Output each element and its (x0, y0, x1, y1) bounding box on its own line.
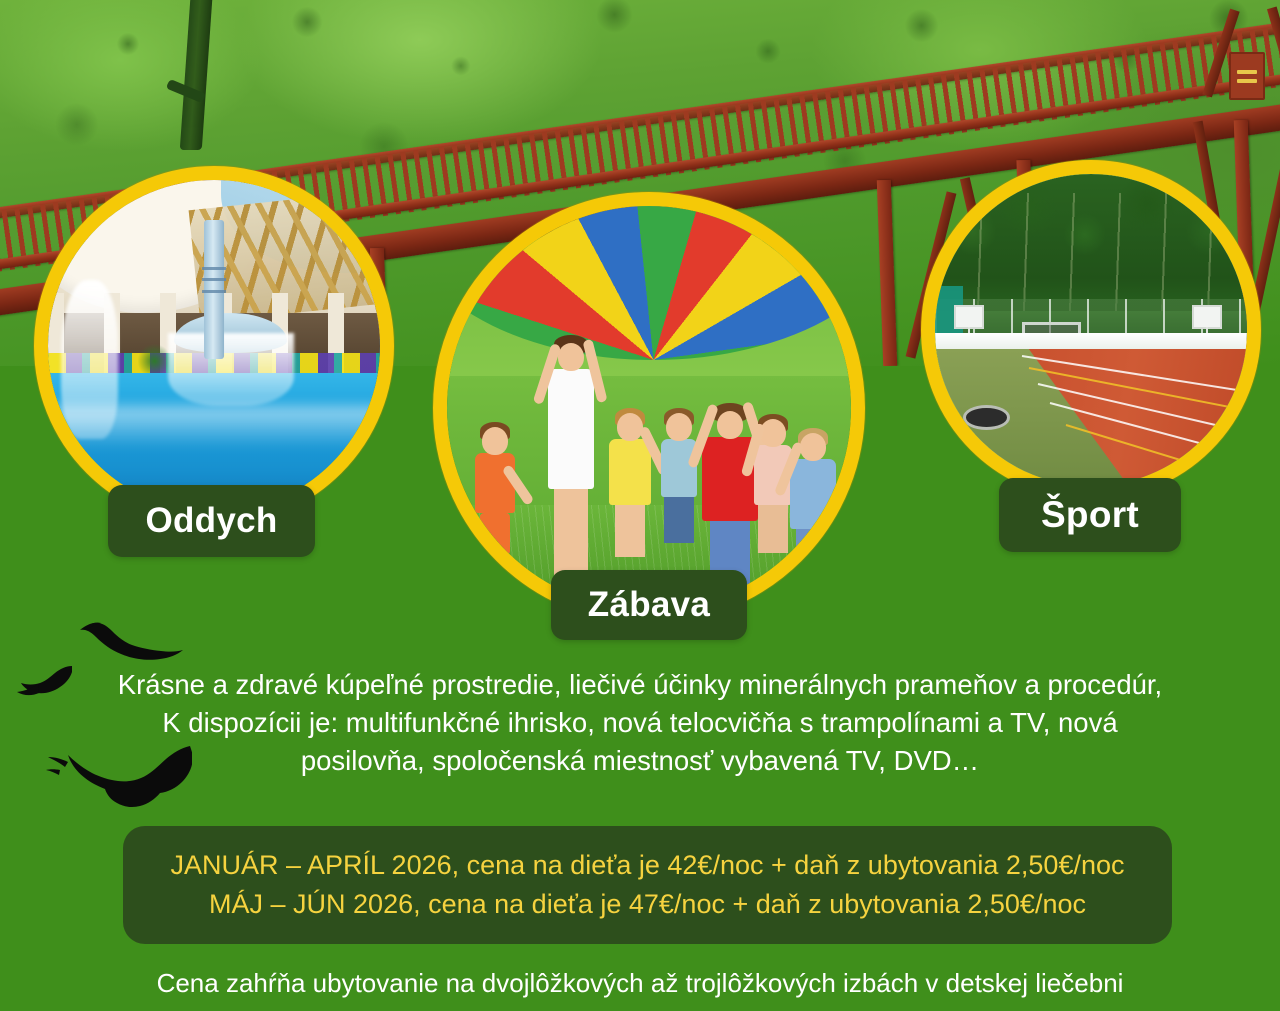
circle-label-zabava-text: Zábava (588, 585, 710, 625)
sign-bar-icon (1237, 79, 1257, 83)
pool-plant (138, 343, 171, 373)
circle-photo-sport (921, 160, 1261, 500)
description-line-3: posilovňa, spoločenská miestnosť vybaven… (0, 742, 1280, 780)
mushroom-fountain-column (204, 220, 224, 359)
basketball-hoop (1192, 305, 1222, 329)
circle-label-oddych[interactable]: Oddych (108, 485, 315, 557)
bird-silhouette-icon (78, 616, 198, 664)
pool-scene (48, 180, 380, 512)
circle-photo-zabava (433, 192, 865, 624)
circle-inner-oddych (48, 180, 380, 512)
footer-note: Cena zahŕňa ubytovanie na dvojlôžkových … (0, 966, 1280, 1000)
mushroom-fountain-water (168, 333, 294, 406)
child-figure (609, 439, 651, 505)
price-box: JANUÁR – APRÍL 2026, cena na dieťa je 42… (123, 826, 1172, 944)
basketball-hoop (954, 305, 984, 329)
side-waterfall (61, 280, 117, 439)
circle-label-sport-text: Šport (1041, 494, 1139, 536)
child-figure (475, 453, 515, 513)
trampoline (963, 405, 1010, 430)
description-line-2: K dispozícii je: multifunkčné ihrisko, n… (0, 704, 1280, 742)
price-line-2: MÁJ – JÚN 2026, cena na dieťa je 47€/noc… (209, 888, 1086, 921)
sports-field-scene (935, 174, 1247, 486)
price-line-1: JANUÁR – APRÍL 2026, cena na dieťa je 42… (170, 849, 1124, 882)
child-figure (548, 369, 594, 489)
child-figure (790, 459, 836, 529)
promo-poster: Oddych Zábava Šport Krásne a zdravé kúpe… (0, 0, 1280, 1011)
circle-inner-zabava (447, 206, 851, 610)
circle-photo-oddych (34, 166, 394, 526)
circle-label-oddych-text: Oddych (145, 501, 277, 541)
circle-label-zabava[interactable]: Zábava (551, 570, 747, 640)
children-parachute-scene (447, 206, 851, 610)
circle-label-sport[interactable]: Šport (999, 478, 1181, 552)
child-figure (661, 439, 697, 497)
circle-inner-sport (935, 174, 1247, 486)
bridge-sign (1229, 52, 1265, 100)
description-block: Krásne a zdravé kúpeľné prostredie, lieč… (0, 666, 1280, 780)
description-line-1: Krásne a zdravé kúpeľné prostredie, lieč… (0, 666, 1280, 704)
sign-bar-icon (1237, 70, 1257, 74)
